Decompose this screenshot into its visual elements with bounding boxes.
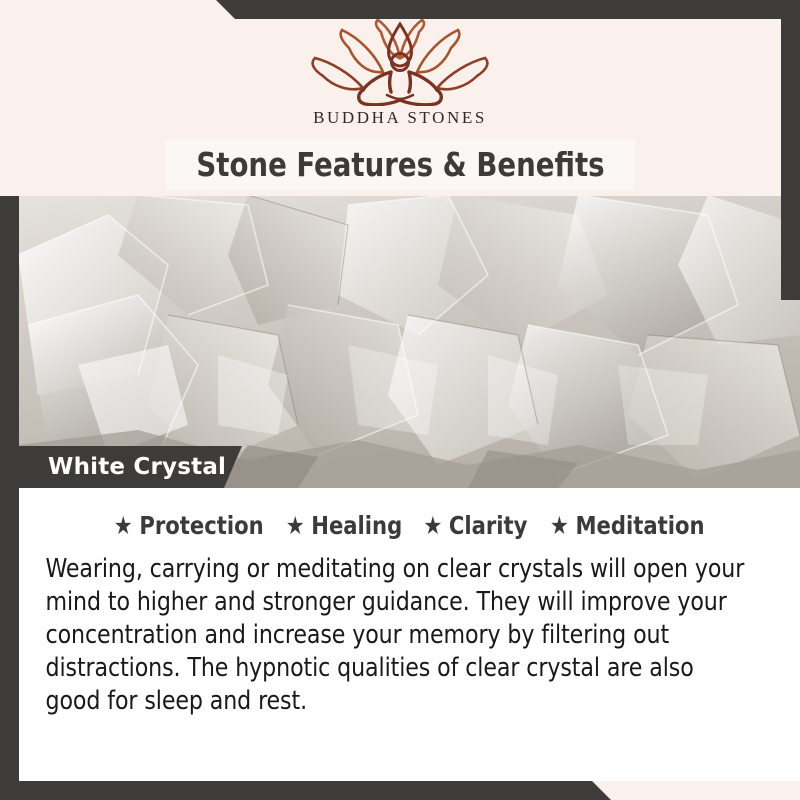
header-section: BUDDHA STONES Stone Features & Benefits [0, 0, 800, 196]
star-icon: ★ [286, 513, 305, 538]
feature-label: Protection [139, 511, 263, 540]
brand-name: BUDDHA STONES [313, 108, 487, 128]
stone-name-label: White Crystal [48, 454, 226, 480]
infographic-card: BUDDHA STONES Stone Features & Benefits [0, 0, 800, 800]
star-icon: ★ [113, 513, 132, 538]
description-text: Wearing, carrying or meditating on clear… [32, 553, 760, 718]
star-icon: ★ [550, 513, 569, 538]
feature-item-meditation: ★ Meditation [550, 511, 705, 540]
content-section: ★ Protection ★ Healing ★ Clarity ★ Medit… [18, 488, 800, 781]
page-title: Stone Features & Benefits [196, 145, 604, 184]
feature-item-healing: ★ Healing [286, 511, 403, 540]
feature-label: Healing [311, 511, 402, 540]
feature-label: Meditation [575, 511, 704, 540]
crystal-photo [18, 195, 800, 488]
feature-item-clarity: ★ Clarity [423, 511, 527, 540]
feature-item-protection: ★ Protection [113, 511, 263, 540]
star-icon: ★ [423, 513, 442, 538]
frame-bottom-accent [0, 781, 800, 800]
lotus-meditation-icon [305, 18, 495, 106]
brand-logo: BUDDHA STONES [0, 18, 800, 138]
stone-name-badge: White Crystal [18, 446, 242, 488]
title-band: Stone Features & Benefits [165, 139, 635, 190]
feature-label: Clarity [449, 511, 528, 540]
feature-list: ★ Protection ★ Healing ★ Clarity ★ Medit… [32, 511, 786, 540]
